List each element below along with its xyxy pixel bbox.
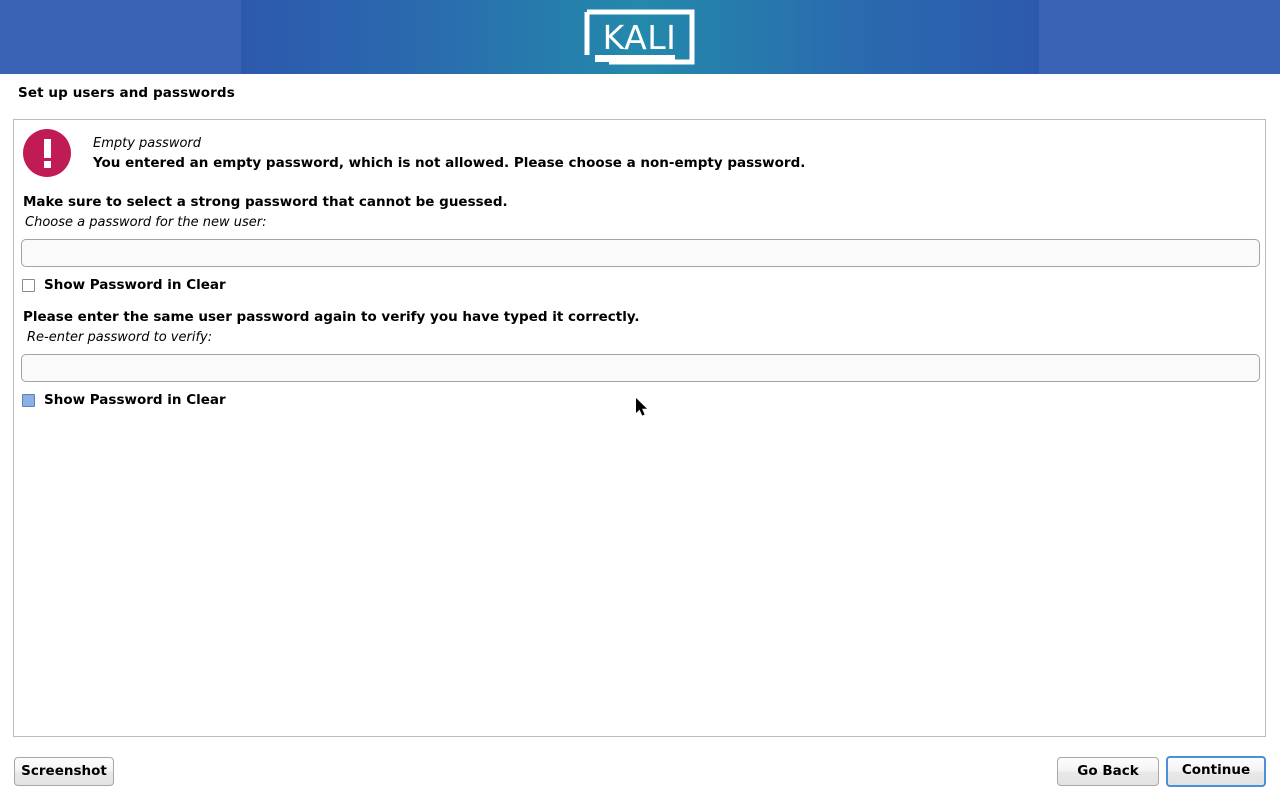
screenshot-button[interactable]: Screenshot (14, 757, 114, 786)
password-input[interactable] (21, 239, 1260, 267)
show-password-in-clear-row-1[interactable]: Show Password in Clear (22, 277, 226, 293)
kali-banner: KALI (0, 0, 1280, 74)
verify-label: Re-enter password to verify: (27, 330, 212, 345)
kali-linux-logo: KALI (583, 8, 696, 66)
show-password-label-1: Show Password in Clear (44, 277, 226, 293)
show-password-checkbox-1[interactable] (22, 279, 35, 292)
page-title: Set up users and passwords (18, 85, 235, 101)
error-exclamation-icon (23, 129, 71, 177)
password-heading: Make sure to select a strong password th… (23, 194, 508, 210)
continue-button[interactable]: Continue (1166, 756, 1266, 787)
show-password-in-clear-row-2[interactable]: Show Password in Clear (22, 392, 226, 408)
go-back-button[interactable]: Go Back (1057, 757, 1159, 786)
error-title: Empty password (93, 136, 201, 151)
verify-heading: Please enter the same user password agai… (23, 309, 640, 325)
show-password-label-2: Show Password in Clear (44, 392, 226, 408)
error-message: You entered an empty password, which is … (93, 155, 805, 171)
svg-text:KALI: KALI (603, 18, 677, 57)
password-label: Choose a password for the new user: (25, 215, 267, 230)
installer-screen: KALI Set up users and passwords Empty pa… (0, 0, 1280, 800)
show-password-checkbox-2[interactable] (22, 394, 35, 407)
main-content-panel: Empty password You entered an empty pass… (13, 119, 1266, 737)
verify-password-input[interactable] (21, 354, 1260, 382)
